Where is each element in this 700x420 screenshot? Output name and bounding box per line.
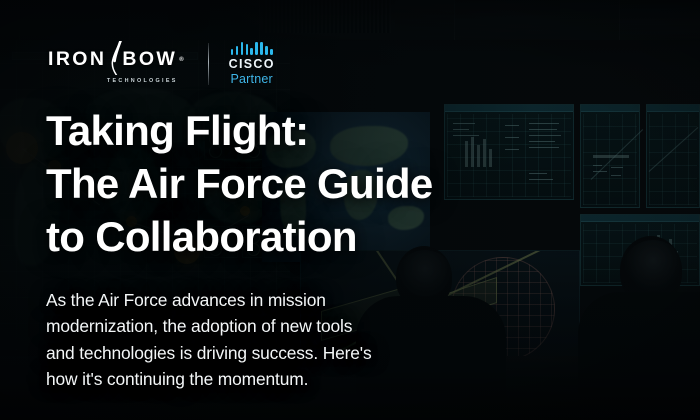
body-line-2: modernization, the adoption of new tools <box>46 313 466 339</box>
page-title: Taking Flight: The Air Force Guide to Co… <box>46 104 516 263</box>
body-line-4: how it's continuing the momentum. <box>46 366 466 392</box>
body-line-1: As the Air Force advances in mission <box>46 287 466 313</box>
cisco-partner-label: Partner <box>230 72 272 86</box>
headline-line-1: Taking Flight: <box>46 104 516 157</box>
ironbow-logo[interactable]: IRON BOW ® TECHNOLOGIES <box>48 42 188 86</box>
logo-divider <box>208 43 209 85</box>
ironbow-bow-icon <box>106 45 122 75</box>
cisco-wordmark: CISCO <box>229 58 275 71</box>
ironbow-wordmark: IRON BOW ® <box>48 45 184 75</box>
logo-lockup: IRON BOW ® TECHNOLOGIES <box>48 40 275 88</box>
ironbow-word-bow: BOW <box>122 50 177 70</box>
cisco-bridge-icon <box>231 42 273 55</box>
headline-line-2: The Air Force Guide <box>46 157 516 210</box>
body-line-3: and technologies is driving success. Her… <box>46 340 466 366</box>
promo-banner: IRON BOW ® TECHNOLOGIES <box>0 0 700 420</box>
bow-swoosh-icon <box>110 41 123 75</box>
ironbow-tagline: TECHNOLOGIES <box>107 78 184 84</box>
content-layer: IRON BOW ® TECHNOLOGIES <box>0 0 700 420</box>
body-paragraph: As the Air Force advances in mission mod… <box>46 287 466 393</box>
headline-line-3: to Collaboration <box>46 210 516 263</box>
registered-trademark-icon: ® <box>179 57 183 63</box>
ironbow-word-iron: IRON <box>48 50 106 70</box>
cisco-partner-logo[interactable]: CISCO Partner <box>229 42 275 87</box>
